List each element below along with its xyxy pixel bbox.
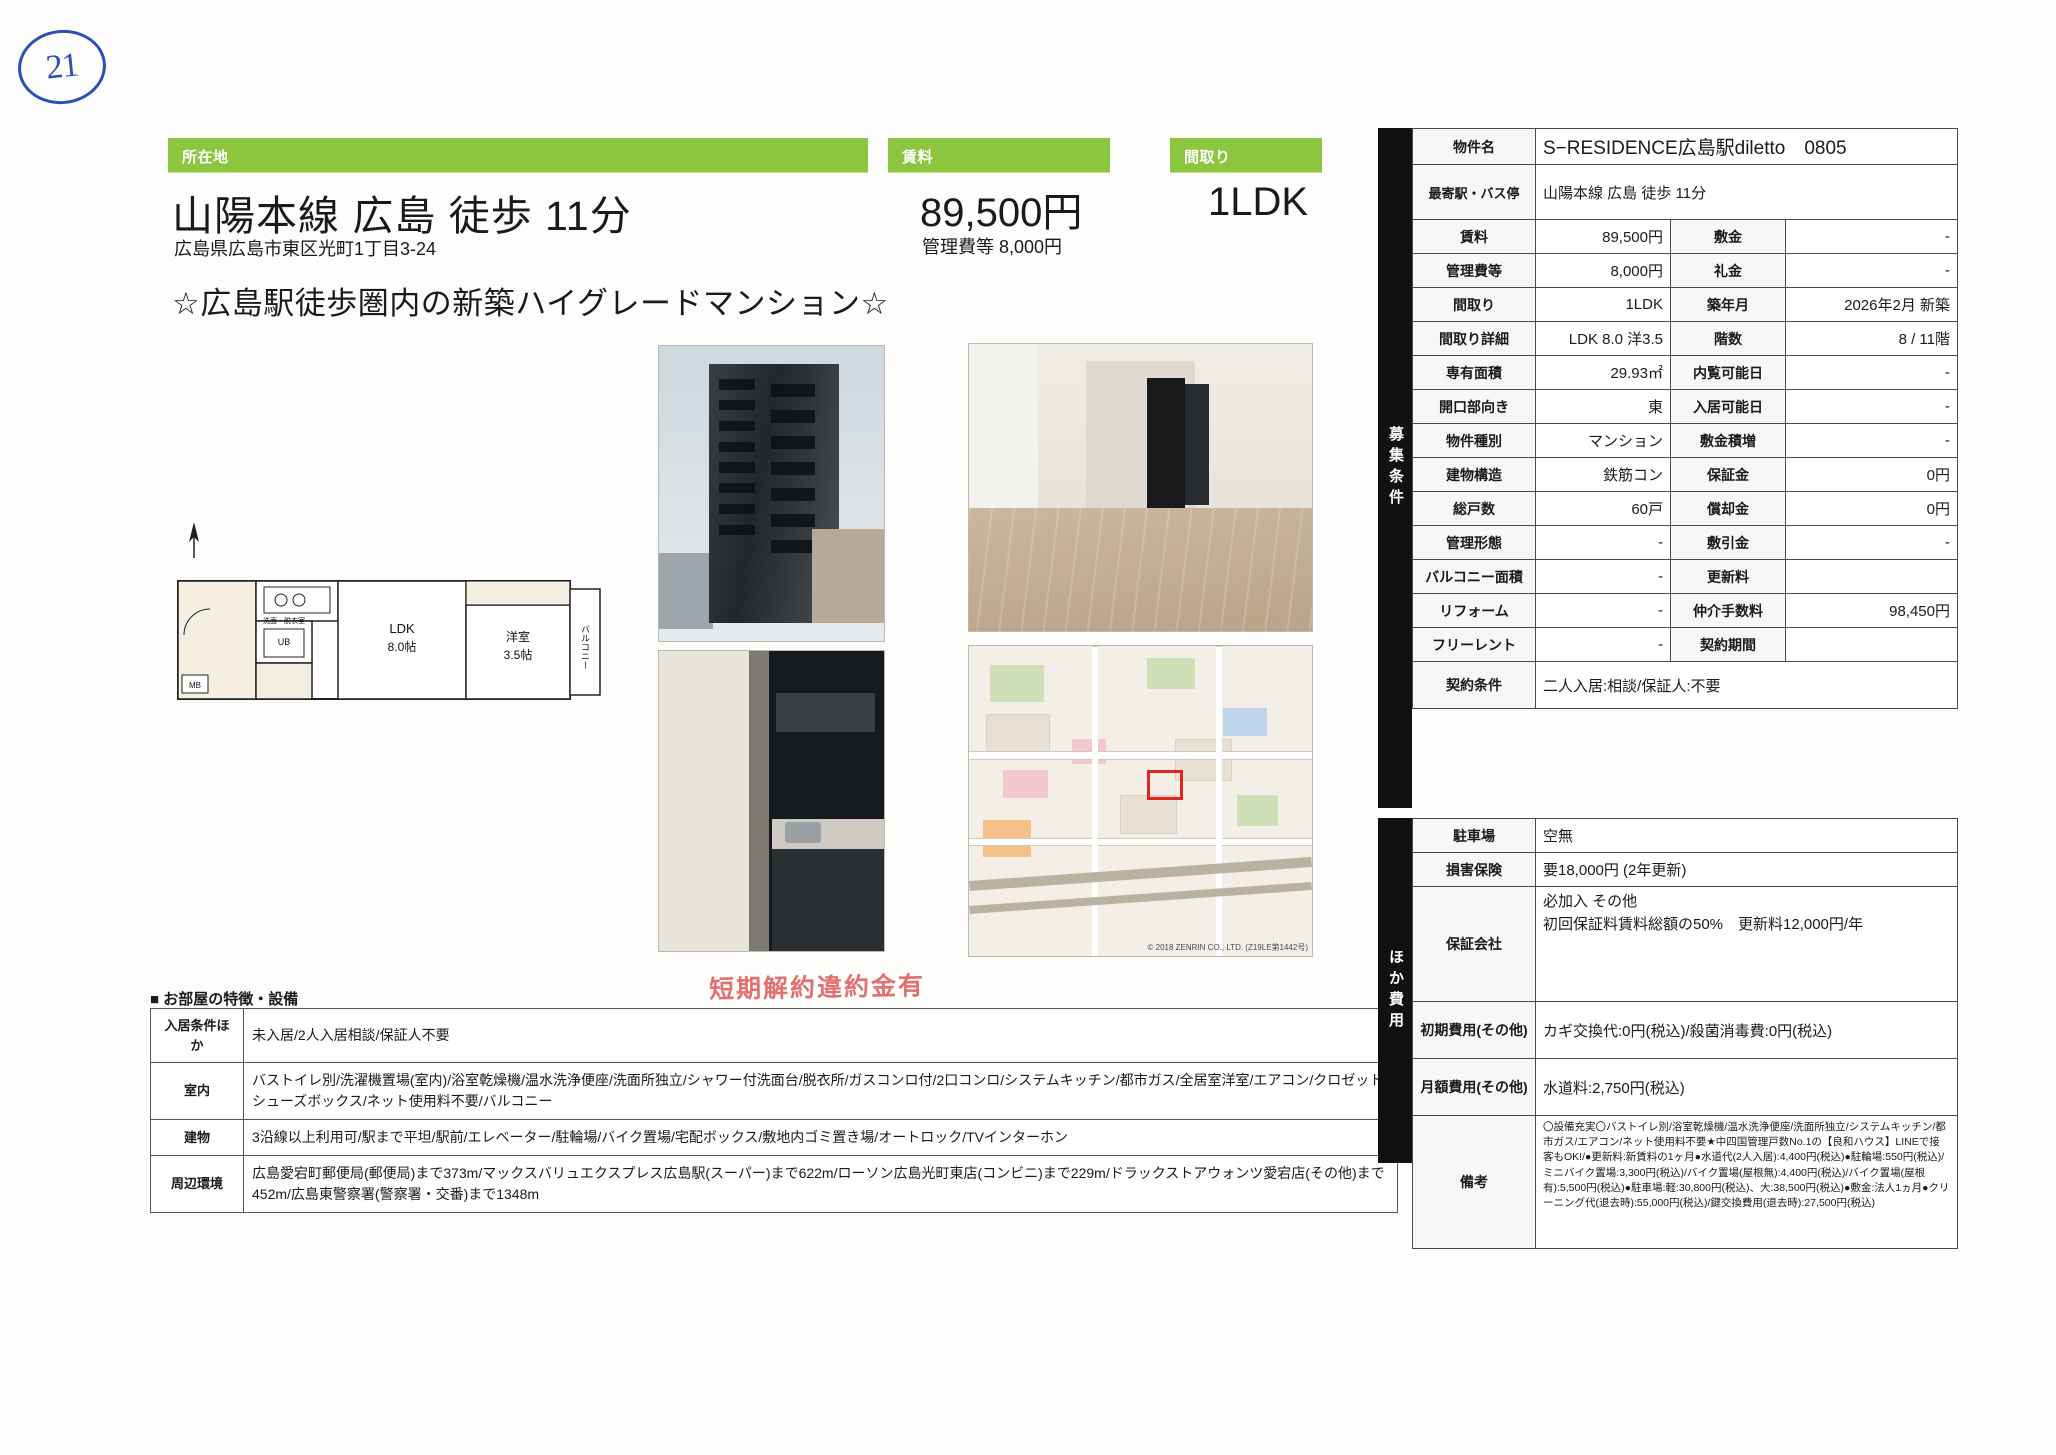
spec-label: 敷引金 [1671, 526, 1786, 560]
spec-value: - [1786, 424, 1958, 458]
spec-value-insurance: 要18,000円 (2年更新) [1536, 853, 1958, 887]
table-row: 室内 バストイレ別/洗濯機置場(室内)/浴室乾燥機/温水洗浄便座/洗面所独立/シ… [151, 1063, 1398, 1120]
table-row: 間取り 1LDK 築年月 2026年2月 新築 [1413, 288, 1958, 322]
floorplan-mb-label: MB [189, 681, 201, 690]
feature-value: バストイレ別/洗濯機置場(室内)/浴室乾燥機/温水洗浄便座/洗面所独立/シャワー… [244, 1063, 1398, 1120]
spec-label-contract: 契約条件 [1413, 662, 1536, 709]
spec-label: 更新料 [1671, 560, 1786, 594]
feature-key: 室内 [151, 1063, 244, 1120]
spec-label: 内覧可能日 [1671, 356, 1786, 390]
spec-label-monthly-cost: 月額費用(その他) [1413, 1059, 1536, 1116]
floorplan: LDK 8.0帖 洋室 3.5帖 バルコニー UB MB 洗面・脱衣室 [176, 575, 606, 710]
spec-value: 8,000円 [1536, 254, 1671, 288]
spec-value: 0円 [1786, 458, 1958, 492]
spec-value: 1LDK [1536, 288, 1671, 322]
features-table: 入居条件ほか 未入居/2人入居相談/保証人不要 室内 バストイレ別/洗濯機置場(… [150, 1008, 1398, 1213]
feature-key: 周辺環境 [151, 1156, 244, 1213]
table-row: 月額費用(その他) 水道料:2,750円(税込) [1413, 1059, 1958, 1116]
spec-value-parking: 空無 [1536, 819, 1958, 853]
spec-label: 入居可能日 [1671, 390, 1786, 424]
address-band-label: 所在地 [168, 138, 868, 167]
floorplan-ldk-size: 8.0帖 [388, 639, 417, 654]
table-row: 開口部向き 東 入居可能日 - [1413, 390, 1958, 424]
spec-value: 29.93㎡ [1536, 356, 1671, 390]
spec-label: 敷金積増 [1671, 424, 1786, 458]
table-row: 保証会社 必加入 その他 初回保証料賃料総額の50% 更新料12,000円/年 [1413, 887, 1958, 1002]
spec-value: 8 / 11階 [1786, 322, 1958, 356]
spec-value: - [1536, 560, 1671, 594]
spec-value: 2026年2月 新築 [1786, 288, 1958, 322]
map-location-marker [1147, 770, 1183, 800]
map-credit: © 2018 ZENRIN CO., LTD. (Z19LE第1442号) [1148, 942, 1308, 953]
spec-label: 仲介手数料 [1671, 594, 1786, 628]
photo-exterior [658, 345, 885, 642]
spec-label: 賃料 [1413, 220, 1536, 254]
floorplan-washroom-label: 洗面・脱衣室 [263, 616, 305, 625]
spec-table-main: 物件名 S−RESIDENCE広島駅diletto 0805 最寄駅・バス停 山… [1412, 128, 1958, 709]
table-row: 初期費用(その他) カギ交換代:0円(税込)/殺菌消毒費:0円(税込) [1413, 1002, 1958, 1059]
spec-label: 総戸数 [1413, 492, 1536, 526]
table-row: バルコニー面積 - 更新料 [1413, 560, 1958, 594]
spec-value: マンション [1536, 424, 1671, 458]
feature-key: 建物 [151, 1120, 244, 1156]
spec-value: - [1536, 628, 1671, 662]
table-row: 備考 〇設備充実〇バストイレ別/浴室乾燥機/温水洗浄便座/洗面所独立/システムキ… [1413, 1116, 1958, 1249]
spec-label: バルコニー面積 [1413, 560, 1536, 594]
table-row: 契約条件 二人入居:相談/保証人:不要 [1413, 662, 1958, 709]
table-row: 賃料 89,500円 敷金 - [1413, 220, 1958, 254]
layout-band: 間取り [1170, 138, 1322, 172]
floorplan-ub-label: UB [278, 637, 291, 647]
table-row: 物件種別 マンション 敷金積増 - [1413, 424, 1958, 458]
table-row: 専有面積 29.93㎡ 内覧可能日 - [1413, 356, 1958, 390]
table-row: 入居条件ほか 未入居/2人入居相談/保証人不要 [151, 1009, 1398, 1063]
table-row: 建物 3沿線以上利用可/駅まで平坦/駅前/エレベーター/駐輪場/バイク置場/宅配… [151, 1120, 1398, 1156]
table-row: 損害保険 要18,000円 (2年更新) [1413, 853, 1958, 887]
spec-label: フリーレント [1413, 628, 1536, 662]
spec-label: 築年月 [1671, 288, 1786, 322]
table-row: 周辺環境 広島愛宕町郵便局(郵便局)まで373m/マックスバリュエクスプレス広島… [151, 1156, 1398, 1213]
spec-value: - [1536, 594, 1671, 628]
table-row: フリーレント - 契約期間 [1413, 628, 1958, 662]
photo-living-room [968, 343, 1313, 632]
spec-table-other-costs: 駐車場 空無 損害保険 要18,000円 (2年更新) 保証会社 必加入 その他… [1412, 818, 1958, 1249]
spec-value [1786, 560, 1958, 594]
spec-value-initial-cost: カギ交換代:0円(税込)/殺菌消毒費:0円(税込) [1536, 1002, 1958, 1059]
spec-label: 管理費等 [1413, 254, 1536, 288]
spec-label: 建物構造 [1413, 458, 1536, 492]
spec-value-property-name: S−RESIDENCE広島駅diletto 0805 [1536, 129, 1958, 165]
spec-label-initial-cost: 初期費用(その他) [1413, 1002, 1536, 1059]
table-row: 物件名 S−RESIDENCE広島駅diletto 0805 [1413, 129, 1958, 165]
spec-label: 間取り詳細 [1413, 322, 1536, 356]
rent-amount: 89,500円 [920, 180, 1082, 238]
penalty-stamp: 短期解約違約金有 [672, 965, 963, 1004]
spec-value: - [1536, 526, 1671, 560]
spec-value: - [1786, 390, 1958, 424]
spec-value-guarantor: 必加入 その他 初回保証料賃料総額の50% 更新料12,000円/年 [1536, 887, 1958, 1002]
section-label-hoka: ほか費用 [1378, 818, 1412, 1163]
spec-value: 東 [1536, 390, 1671, 424]
table-row: 管理費等 8,000円 礼金 - [1413, 254, 1958, 288]
floorplan-ldk-label: LDK [389, 621, 415, 636]
spec-value: - [1786, 356, 1958, 390]
spec-label: 物件種別 [1413, 424, 1536, 458]
spec-label: 間取り [1413, 288, 1536, 322]
spec-value-monthly-cost: 水道料:2,750円(税込) [1536, 1059, 1958, 1116]
spec-label: 契約期間 [1671, 628, 1786, 662]
spec-label: 管理形態 [1413, 526, 1536, 560]
layout-type: 1LDK [1208, 180, 1308, 225]
spec-label: 礼金 [1671, 254, 1786, 288]
spec-value: 0円 [1786, 492, 1958, 526]
layout-band-label: 間取り [1170, 138, 1322, 167]
spec-label-remarks: 備考 [1413, 1116, 1536, 1249]
catchcopy-text: ☆広島駅徒歩圏内の新築ハイグレードマンション☆ [172, 278, 889, 323]
table-row: 駐車場 空無 [1413, 819, 1958, 853]
spec-label: 開口部向き [1413, 390, 1536, 424]
spec-value-contract: 二人入居:相談/保証人:不要 [1536, 662, 1958, 709]
table-row: 間取り詳細 LDK 8.0 洋3.5 階数 8 / 11階 [1413, 322, 1958, 356]
table-row: 最寄駅・バス停 山陽本線 広島 徒歩 11分 [1413, 165, 1958, 220]
spec-label-parking: 駐車場 [1413, 819, 1536, 853]
feature-value: 3沿線以上利用可/駅まで平坦/駅前/エレベーター/駐輪場/バイク置場/宅配ボック… [244, 1120, 1398, 1156]
spec-value: - [1786, 254, 1958, 288]
table-row: 総戸数 60戸 償却金 0円 [1413, 492, 1958, 526]
features-title: ■ お部屋の特徴・設備 [150, 988, 298, 1009]
spec-value [1786, 628, 1958, 662]
spec-value-remarks: 〇設備充実〇バストイレ別/浴室乾燥機/温水洗浄便座/洗面所独立/システムキッチン… [1536, 1116, 1958, 1249]
floorplan-room-label: 洋室 [506, 629, 530, 644]
management-fee: 管理費等 8,000円 [922, 233, 1062, 259]
spec-value: 60戸 [1536, 492, 1671, 526]
address-band: 所在地 [168, 138, 868, 172]
feature-key: 入居条件ほか [151, 1009, 244, 1063]
table-row: 建物構造 鉄筋コン 保証金 0円 [1413, 458, 1958, 492]
page-number-mark: 21 [14, 26, 109, 109]
spec-value: - [1786, 526, 1958, 560]
spec-label: 保証金 [1671, 458, 1786, 492]
feature-value: 広島愛宕町郵便局(郵便局)まで373m/マックスバリュエクスプレス広島駅(スーパ… [244, 1156, 1398, 1213]
spec-label-insurance: 損害保険 [1413, 853, 1536, 887]
feature-value: 未入居/2人入居相談/保証人不要 [244, 1009, 1398, 1063]
spec-value: 98,450円 [1786, 594, 1958, 628]
floorplan-balcony-label: バルコニー [580, 624, 590, 669]
spec-label-guarantor: 保証会社 [1413, 887, 1536, 1002]
spec-label-station: 最寄駅・バス停 [1413, 165, 1536, 220]
spec-label: 階数 [1671, 322, 1786, 356]
section-label-boshu: 募集条件 [1378, 128, 1412, 808]
spec-value: 89,500円 [1536, 220, 1671, 254]
address-sub-text: 広島県広島市東区光町1丁目3-24 [174, 235, 436, 261]
address-main-text: 山陽本線 広島 徒歩 11分 [172, 182, 632, 242]
spec-value: - [1786, 220, 1958, 254]
rent-band: 賃料 [888, 138, 1110, 172]
spec-label-property-name: 物件名 [1413, 129, 1536, 165]
spec-label: 敷金 [1671, 220, 1786, 254]
spec-value: 鉄筋コン [1536, 458, 1671, 492]
floorplan-room-size: 3.5帖 [504, 647, 533, 662]
spec-value: LDK 8.0 洋3.5 [1536, 322, 1671, 356]
spec-value-station: 山陽本線 広島 徒歩 11分 [1536, 165, 1958, 220]
photo-kitchen [658, 650, 885, 952]
table-row: リフォーム - 仲介手数料 98,450円 [1413, 594, 1958, 628]
spec-label: 専有面積 [1413, 356, 1536, 390]
spec-label: リフォーム [1413, 594, 1536, 628]
rent-band-label: 賃料 [888, 138, 1110, 167]
compass-north-icon [180, 520, 208, 560]
table-row: 管理形態 - 敷引金 - [1413, 526, 1958, 560]
photo-area-map: © 2018 ZENRIN CO., LTD. (Z19LE第1442号) [968, 645, 1313, 957]
spec-label: 償却金 [1671, 492, 1786, 526]
property-flyer-sheet: 21 所在地 賃料 間取り 山陽本線 広島 徒歩 11分 広島県広島市東区光町1… [0, 0, 2056, 1455]
